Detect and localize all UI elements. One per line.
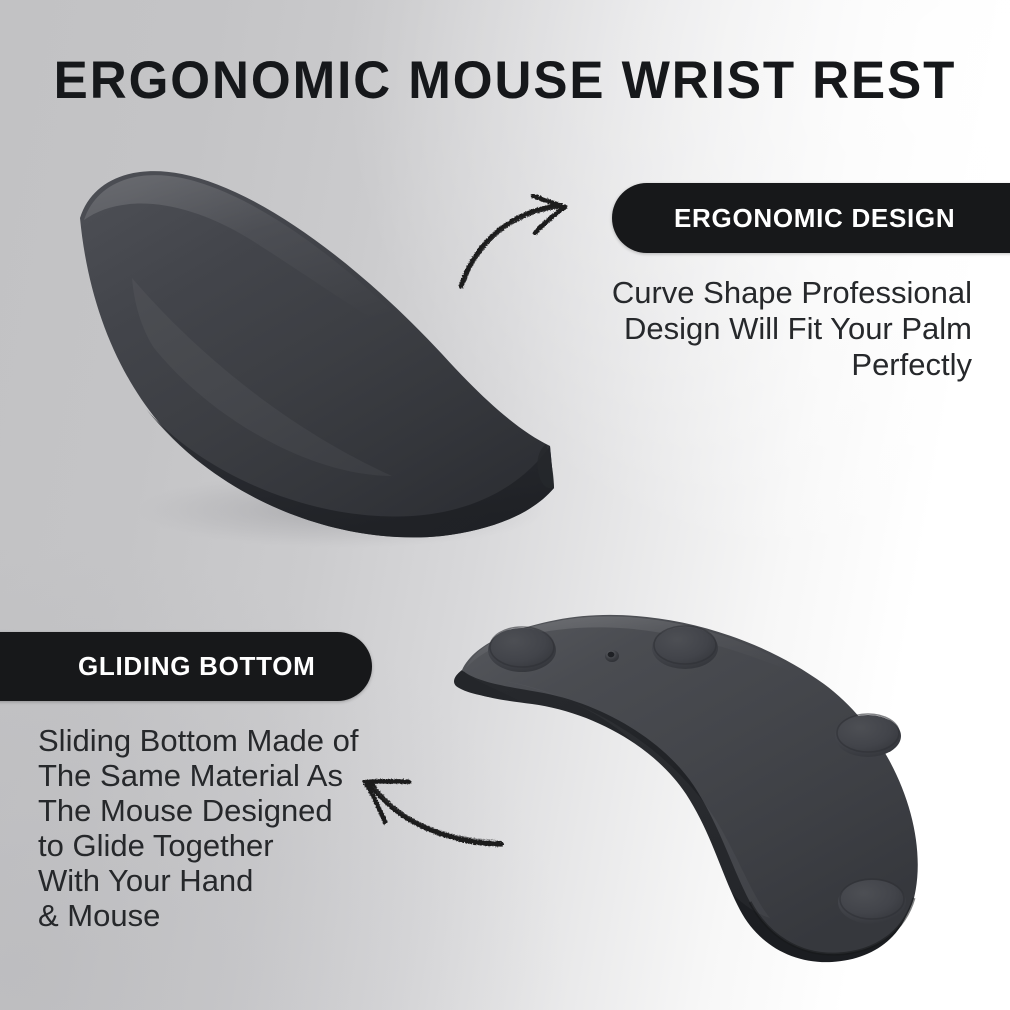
feature-description-gliding-bottom: Sliding Bottom Made of The Same Material… xyxy=(38,723,368,933)
feature-description-line: to Glide Together xyxy=(38,828,368,863)
badge-gliding-bottom-label: GLIDING BOTTOM xyxy=(78,651,316,682)
feature-description-ergonomic-design: Curve Shape Professional Design Will Fit… xyxy=(560,275,972,383)
badge-gliding-bottom[interactable]: GLIDING BOTTOM xyxy=(0,632,372,701)
feature-description-line: & Mouse xyxy=(38,898,368,933)
feature-description-line: With Your Hand xyxy=(38,863,368,898)
page-title: ERGONOMIC MOUSE WRIST REST xyxy=(18,52,993,110)
feature-description-line: The Mouse Designed xyxy=(38,793,368,828)
feature-description-line: The Same Material As xyxy=(38,758,368,793)
product-infographic: ERGONOMIC MOUSE WRIST REST xyxy=(0,0,1010,1010)
feature-description-line: Perfectly xyxy=(560,347,972,383)
badge-ergonomic-design[interactable]: ERGONOMIC DESIGN xyxy=(612,183,1010,253)
feature-description-line: Design Will Fit Your Palm xyxy=(560,311,972,347)
badge-ergonomic-design-label: ERGONOMIC DESIGN xyxy=(674,203,955,234)
wrist-rest-bottom-view xyxy=(440,588,970,970)
feature-description-line: Curve Shape Professional xyxy=(560,275,972,311)
feature-description-line: Sliding Bottom Made of xyxy=(38,723,368,758)
